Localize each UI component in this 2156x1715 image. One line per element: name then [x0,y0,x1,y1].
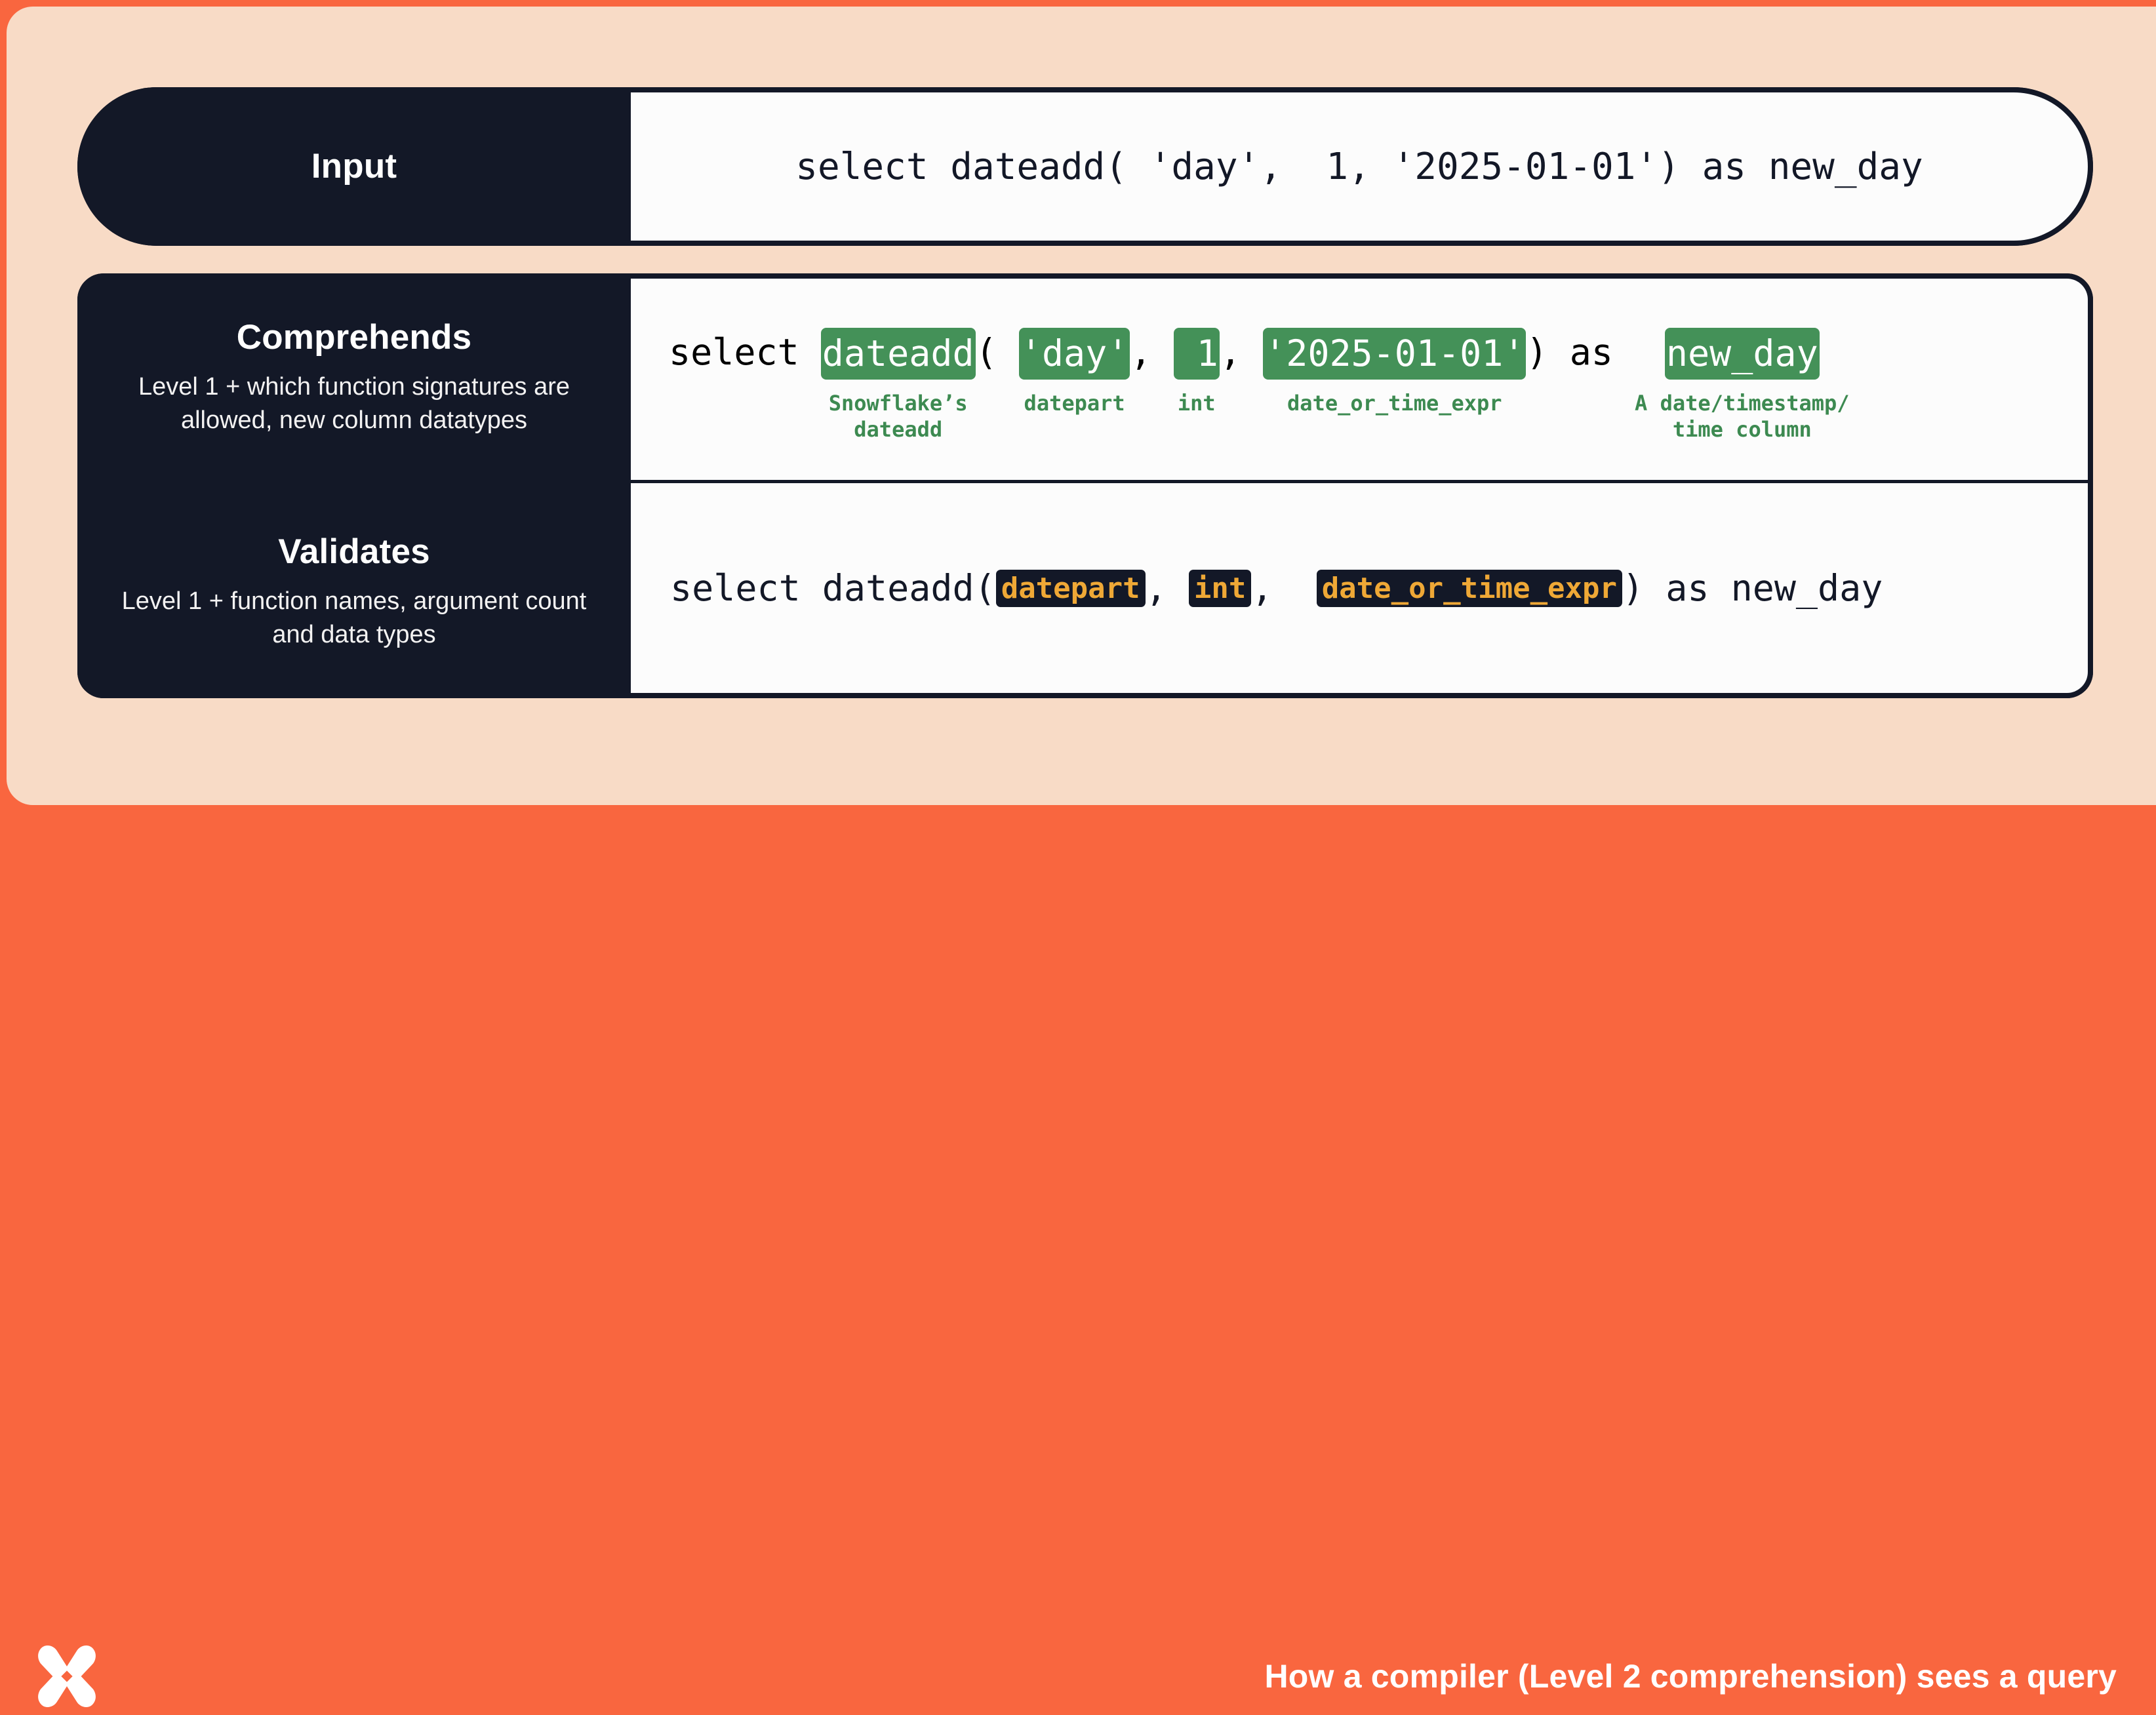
validates-label-column: Validates Level 1 + function names, argu… [77,487,631,698]
token-text: , [1130,328,1173,376]
validates-code-text: select dateadd(datepart, int, date_or_ti… [631,564,2088,612]
validates-token-pill: int [1189,570,1251,607]
comprehends-token: '2025-01-01'date_or_time_expr [1263,328,1526,416]
comprehends-token: 'day'datepart [1019,328,1130,416]
validates-description: Level 1 + function names, argument count… [102,585,607,652]
token-text: dateadd [821,328,976,379]
validates-row: Validates Level 1 + function names, argu… [77,483,2093,698]
token-text: select [669,328,821,376]
token-annotation: datepart [1024,390,1125,416]
comprehends-token: dateaddSnowflake’s dateadd [821,328,976,442]
token-annotation: A date/timestamp/ time column [1635,390,1850,443]
comprehends-token: ( [976,328,1019,387]
token-text: ( [976,328,1019,376]
comprehends-code-panel: select dateaddSnowflake’s dateadd( 'day'… [631,273,2093,483]
comprehends-token: , [1220,328,1263,387]
token-text: , [1220,328,1263,376]
comprehends-token: ) as [1526,328,1635,387]
input-code-panel: select dateadd( 'day', 1, '2025-01-01') … [626,87,2093,246]
validates-token-text: select dateadd( [670,564,996,612]
footer-bar: How a compiler (Level 2 comprehension) s… [0,805,2156,939]
comprehends-code-text: select dateaddSnowflake’s dateadd( 'day'… [631,316,1850,442]
token-text: new_day [1665,328,1820,379]
validates-label: Validates [278,534,430,570]
token-text: ) as [1526,328,1635,376]
input-code-text: select dateadd( 'day', 1, '2025-01-01') … [795,146,1923,188]
validates-code-panel: select dateadd(datepart, int, date_or_ti… [631,483,2093,698]
slide-frame: Input select dateadd( 'day', 1, '2025-01… [0,0,2156,939]
validates-token-pill: datepart [996,570,1146,607]
comprehends-label-column: Comprehends Level 1 + which function sig… [77,273,631,483]
comprehends-label: Comprehends [237,319,472,356]
content-panel: Input select dateadd( 'day', 1, '2025-01… [7,7,2156,805]
input-label-column: Input [77,87,631,246]
comprehends-token: new_dayA date/timestamp/ time column [1635,328,1850,442]
token-annotation: date_or_time_expr [1287,390,1502,416]
validates-token-pill: date_or_time_expr [1317,570,1622,607]
levels-card: Comprehends Level 1 + which function sig… [77,273,2093,698]
x-mark-logo-icon [31,1641,102,1712]
token-text: '2025-01-01' [1263,328,1526,379]
token-annotation: int [1178,390,1216,416]
comprehends-token: select [669,328,821,387]
comprehends-token: 1int [1174,328,1220,416]
validates-token-text: , [1251,564,1316,612]
comprehends-description: Level 1 + which function signatures are … [102,370,607,438]
token-text: 1 [1174,328,1220,379]
validates-token-text: ) as new_day [1622,564,1883,612]
token-text: 'day' [1019,328,1130,379]
input-label: Input [311,148,397,185]
footer-caption: How a compiler (Level 2 comprehension) s… [1264,1657,2117,1695]
token-annotation: Snowflake’s dateadd [829,390,968,443]
comprehends-row: Comprehends Level 1 + which function sig… [77,273,2093,483]
comprehends-token: , [1130,328,1173,387]
validates-token-text: , [1146,564,1189,612]
input-row-card: Input select dateadd( 'day', 1, '2025-01… [77,87,2093,246]
